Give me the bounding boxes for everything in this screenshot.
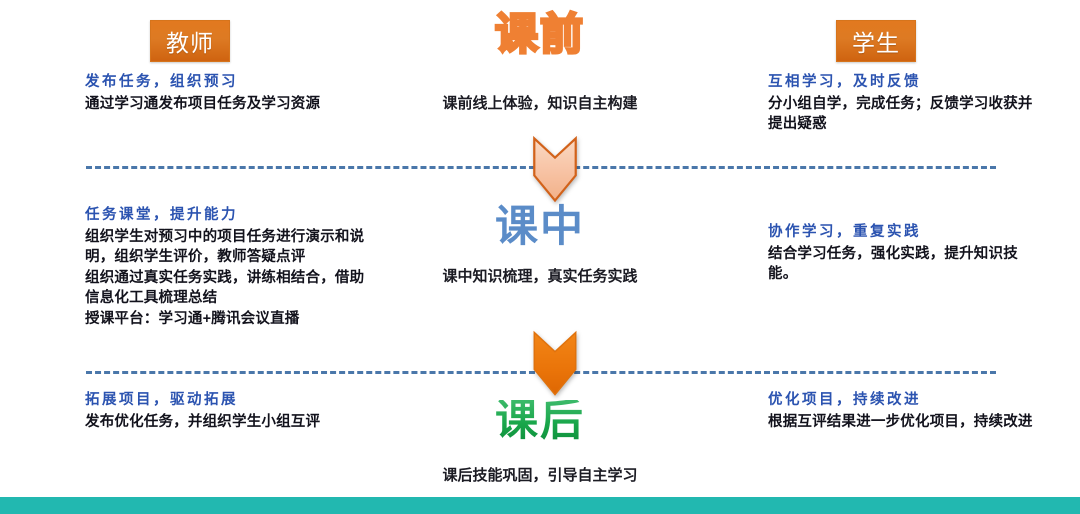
text-block-post-teacher: 拓展项目，驱动拓展 发布优化任务，并组织学生小组互评 xyxy=(85,390,375,432)
stage-subtitle-middle: 课中知识梳理，真实任务实践 xyxy=(370,265,710,286)
post-student-heading: 优化项目，持续改进 xyxy=(768,390,1036,411)
post-teacher-heading: 拓展项目，驱动拓展 xyxy=(85,390,375,411)
text-block-pre-student: 互相学习，及时反馈 分小组自学，完成任务；反馈学习收获并提出疑惑 xyxy=(768,72,1036,135)
mid-student-heading: 协作学习，重复实践 xyxy=(768,222,1036,243)
pre-student-body: 分小组自学，完成任务；反馈学习收获并提出疑惑 xyxy=(768,94,1036,135)
mid-teacher-heading: 任务课堂，提升能力 xyxy=(85,205,375,226)
pre-teacher-heading: 发布任务，组织预习 xyxy=(85,72,375,93)
mid-teacher-body: 组织学生对预习中的项目任务进行演示和说明，组织学生评价，教师答疑点评 组织通过真… xyxy=(85,227,375,330)
post-teacher-body: 发布优化任务，并组织学生小组互评 xyxy=(85,412,375,433)
pre-teacher-body: 通过学习通发布项目任务及学习资源 xyxy=(85,94,375,115)
slide-canvas: 教师 学生 课前 课前线上体验，知识自主构建 发布任务，组织预习 通过学习通发布… xyxy=(0,0,1080,514)
bottom-accent-bar xyxy=(0,497,1080,514)
badge-teacher-label: 教师 xyxy=(166,24,214,58)
text-block-mid-teacher: 任务课堂，提升能力 组织学生对预习中的项目任务进行演示和说明，组织学生评价，教师… xyxy=(85,205,375,329)
stage-title-before: 课前 xyxy=(390,14,690,57)
mid-student-body: 结合学习任务，强化实践，提升知识技能。 xyxy=(768,244,1036,285)
stage-title-after: 课后 xyxy=(390,400,690,443)
arrow-down-mid-to-post-icon xyxy=(518,325,592,399)
badge-student-label: 学生 xyxy=(852,24,900,58)
post-student-body: 根据互评结果进一步优化项目，持续改进 xyxy=(768,412,1036,433)
badge-teacher: 教师 xyxy=(150,20,230,62)
arrow-down-pre-to-mid-icon xyxy=(518,131,592,205)
text-block-post-student: 优化项目，持续改进 根据互评结果进一步优化项目，持续改进 xyxy=(768,390,1036,432)
stage-subtitle-after: 课后技能巩固，引导自主学习 xyxy=(370,464,710,485)
text-block-pre-teacher: 发布任务，组织预习 通过学习通发布项目任务及学习资源 xyxy=(85,72,375,114)
stage-subtitle-before: 课前线上体验，知识自主构建 xyxy=(370,92,710,113)
badge-student: 学生 xyxy=(836,20,916,62)
text-block-mid-student: 协作学习，重复实践 结合学习任务，强化实践，提升知识技能。 xyxy=(768,222,1036,285)
stage-title-middle: 课中 xyxy=(390,206,690,249)
pre-student-heading: 互相学习，及时反馈 xyxy=(768,72,1036,93)
